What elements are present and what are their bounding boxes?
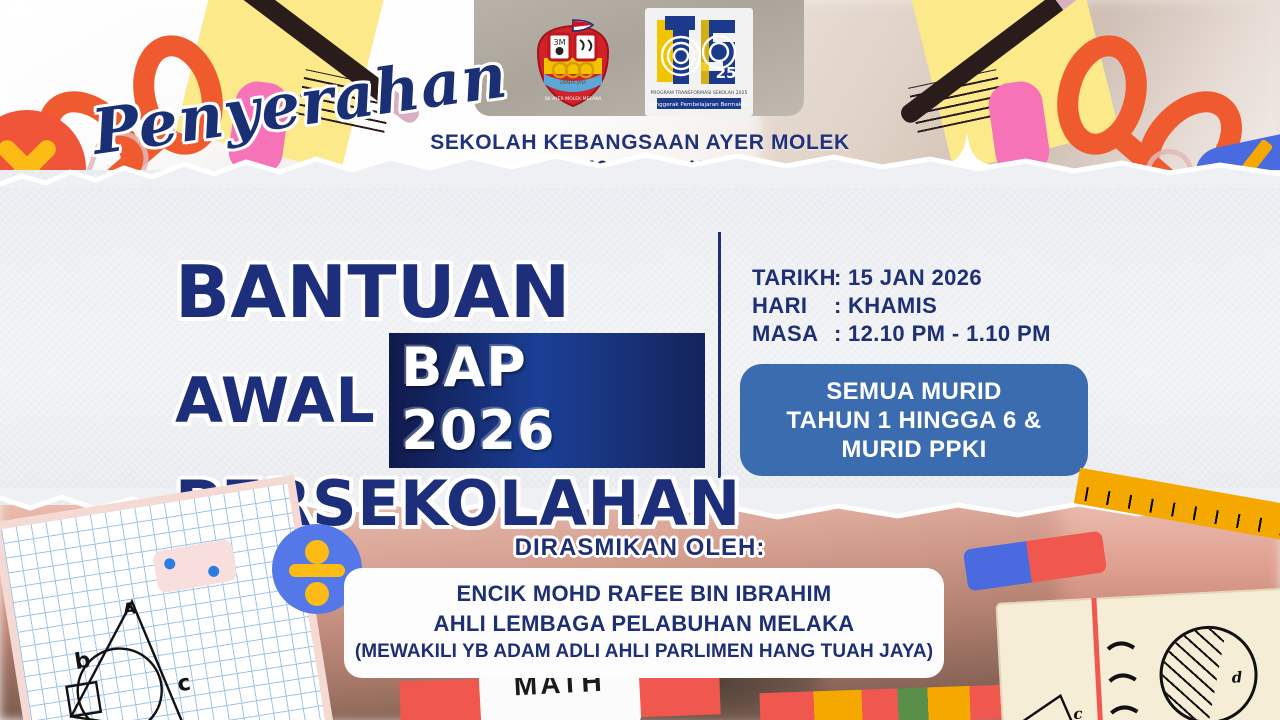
detail-sep-hari: : <box>834 292 848 320</box>
detail-value-tarikh: 15 JAN 2026 <box>848 264 982 292</box>
detail-key-tarikh: TARIKH <box>752 264 834 292</box>
audience-badge: SEMUA MURID TAHUN 1 HINGGA 6 & MURID PPK… <box>740 364 1088 476</box>
audience-line-3: MURID PPKI <box>841 435 986 464</box>
svg-text:3M: 3M <box>554 38 566 47</box>
officiated-by-label: DIRASMIKAN OLEH: <box>0 534 1280 562</box>
officiator-note: (MEWAKILI YB ADAM ADLI AHLI PARLIMEN HAN… <box>355 641 933 663</box>
school-crest-icon: 3M USAHA JAYA SK AYER MOLEK MELAKA <box>530 18 616 110</box>
poster-canvas: 3M USAHA JAYA SK AYER MOLEK MELAKA <box>0 0 1280 720</box>
svg-text:SK AYER MOLEK MELAKA: SK AYER MOLEK MELAKA <box>545 96 603 102</box>
svg-text:25: 25 <box>716 64 737 82</box>
headline-line-3: PERSEKOLAHAN <box>175 474 741 534</box>
vertical-divider <box>718 232 721 478</box>
headline-highlight-bap: BAP 2026 <box>389 333 705 468</box>
svg-text:USAHA JAYA: USAHA JAYA <box>560 80 588 86</box>
detail-row-hari: HARI : KHAMIS <box>752 292 1051 320</box>
headline-block: BANTUAN AWAL BAP 2026 PERSEKOLAHAN <box>175 258 705 534</box>
officiator-card: ENCIK MOHD RAFEE BIN IBRAHIM AHLI LEMBAG… <box>344 568 944 678</box>
ts25-caption-1: PROGRAM TRANSFORMASI SEKOLAH 2025 <box>651 90 748 96</box>
ts25-caption-2: Penggerak Pembelajaran Bermakna <box>649 102 749 108</box>
detail-value-hari: KHAMIS <box>848 292 937 320</box>
detail-row-tarikh: TARIKH : 15 JAN 2026 <box>752 264 1051 292</box>
headline-line-1: BANTUAN <box>175 258 571 327</box>
detail-sep-masa: : <box>834 320 848 348</box>
audience-line-2: TAHUN 1 HINGGA 6 & <box>786 406 1041 435</box>
detail-key-masa: MASA <box>752 320 834 348</box>
detail-row-masa: MASA : 12.10 PM - 1.10 PM <box>752 320 1051 348</box>
event-details: TARIKH : 15 JAN 2026 HARI : KHAMIS MASA … <box>752 264 1051 348</box>
detail-key-hari: HARI <box>752 292 834 320</box>
ts25-program-logo-icon: 25 PROGRAM TRANSFORMASI SEKOLAH 2025 Pen… <box>645 8 753 116</box>
logo-plate <box>474 0 804 116</box>
audience-line-1: SEMUA MURID <box>826 377 1002 406</box>
detail-sep-tarikh: : <box>834 264 848 292</box>
officiator-title: AHLI LEMBAGA PELABUHAN MELAKA <box>434 611 855 637</box>
headline-line-2: AWAL <box>175 371 375 431</box>
officiator-name: ENCIK MOHD RAFEE BIN IBRAHIM <box>456 581 831 607</box>
detail-value-masa: 12.10 PM - 1.10 PM <box>848 320 1051 348</box>
